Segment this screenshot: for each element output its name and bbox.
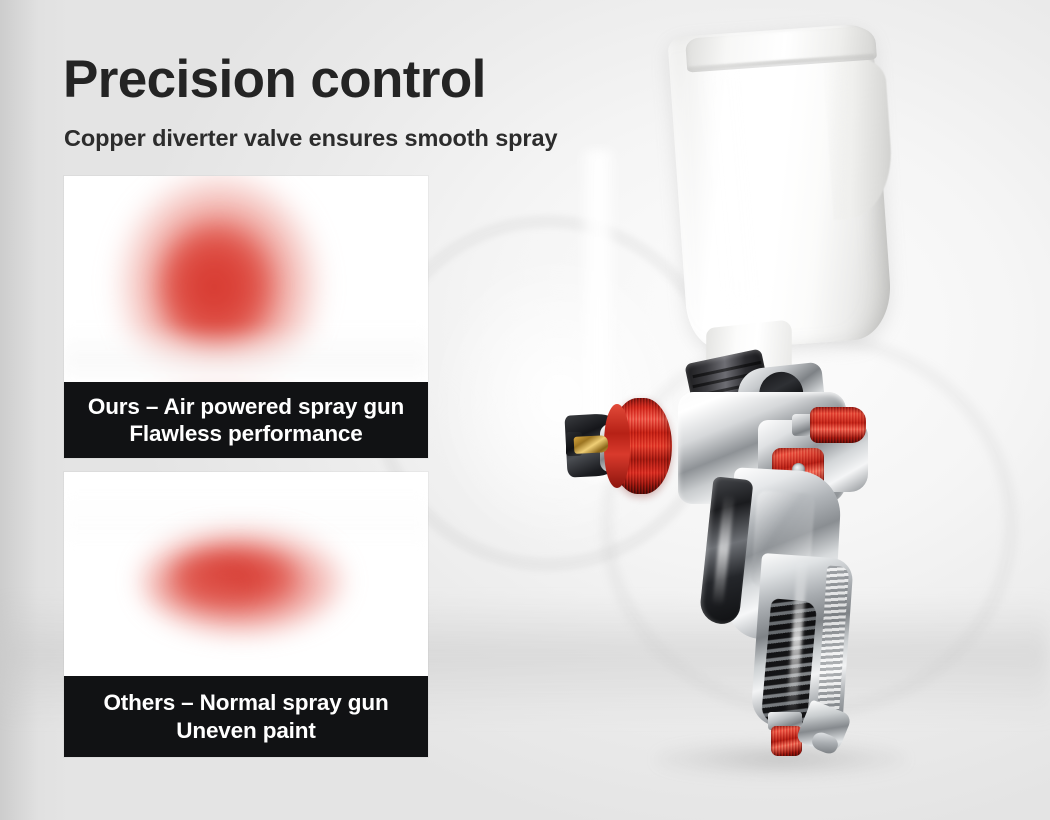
page-subtitle: Copper diverter valve ensures smooth spr… [64,125,557,152]
product-photo-spray-gun [560,0,1050,820]
paint-cup-shoulder [822,56,895,220]
page-title: Precision control [63,52,486,107]
product-marketing-banner: Precision control Copper diverter valve … [0,0,1050,820]
spray-blob-uneven-patch [156,568,242,608]
caption-bar-others: Others – Normal spray gun Uneven paint [64,676,428,757]
comparison-card-others: Others – Normal spray gun Uneven paint [64,472,428,757]
caption-line-2: Flawless performance [129,420,362,447]
air-adjustment-knob-knurling [810,407,866,443]
backdrop-left-vignette [0,0,70,820]
spray-pattern-swatch-others [64,472,428,676]
swatch-sheen [64,326,428,382]
caption-line-2: Uneven paint [176,717,315,744]
brass-fluid-nozzle [574,435,609,454]
comparison-card-ours: Ours – Air powered spray gun Flawless pe… [64,176,428,458]
spray-pattern-swatch-ours [64,176,428,382]
fluid-adjustment-knob-knurling [771,726,802,756]
caption-line-1: Others – Normal spray gun [103,689,388,716]
caption-bar-ours: Ours – Air powered spray gun Flawless pe… [64,382,428,458]
caption-line-1: Ours – Air powered spray gun [88,393,404,420]
